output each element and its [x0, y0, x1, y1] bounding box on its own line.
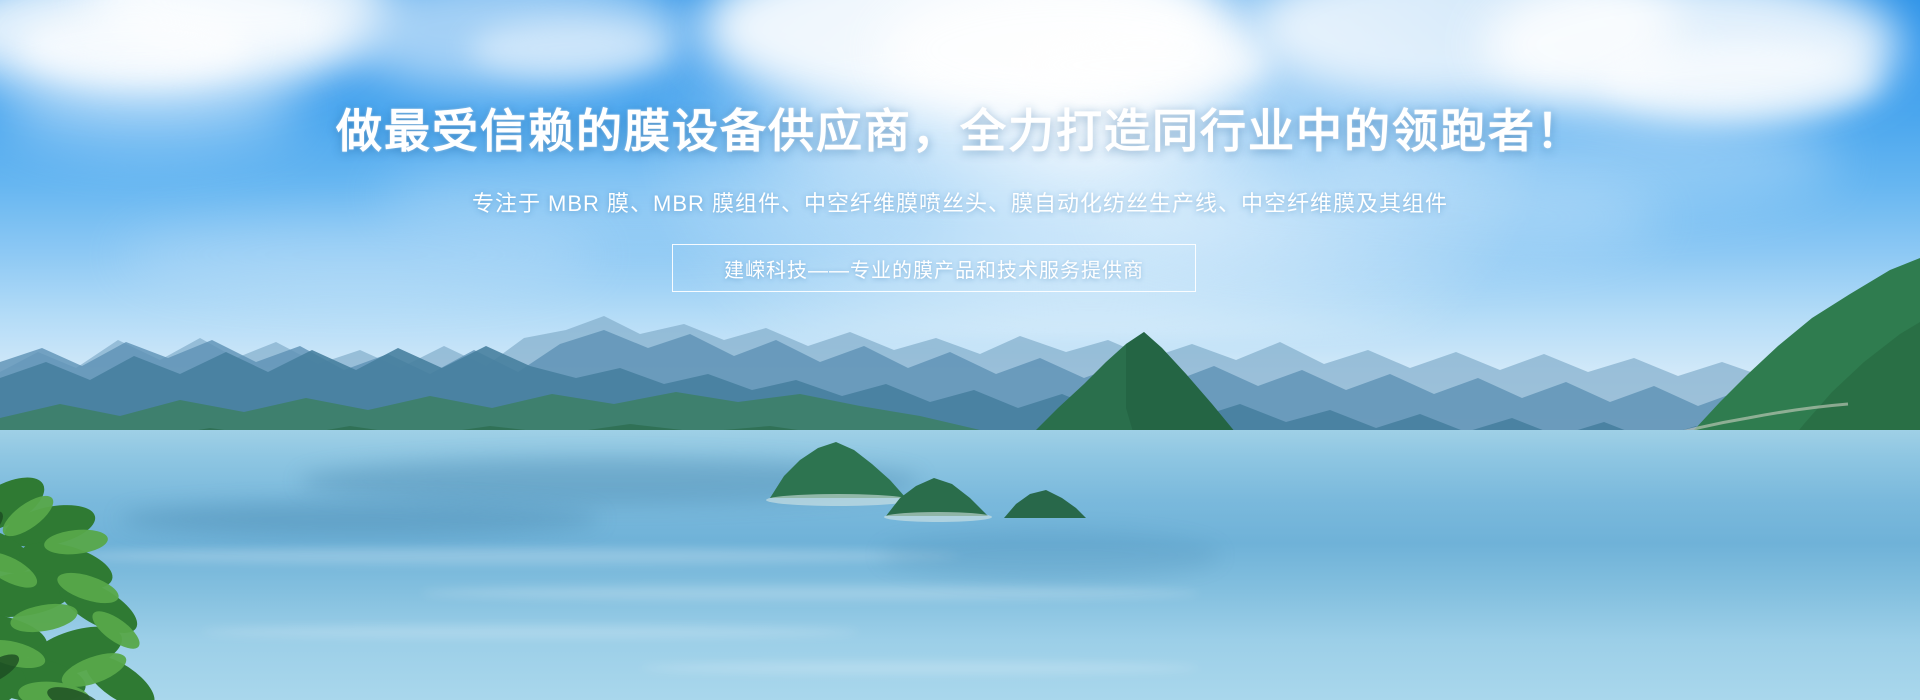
page-title: 做最受信赖的膜设备供应商，全力打造同行业中的领跑者！: [0, 104, 1920, 158]
page-subtitle: 专注于 MBR 膜、MBR 膜组件、中空纤维膜喷丝头、膜自动化纺丝生产线、中空纤…: [0, 186, 1920, 218]
hero-banner: 做最受信赖的膜设备供应商，全力打造同行业中的领跑者！ 专注于 MBR 膜、MBR…: [0, 0, 1920, 700]
hero-text-block: 做最受信赖的膜设备供应商，全力打造同行业中的领跑者！ 专注于 MBR 膜、MBR…: [0, 0, 1920, 700]
tagline-text: 建嵘科技——专业的膜产品和技术服务提供商: [724, 254, 1144, 283]
tagline-box: 建嵘科技——专业的膜产品和技术服务提供商: [672, 244, 1196, 292]
